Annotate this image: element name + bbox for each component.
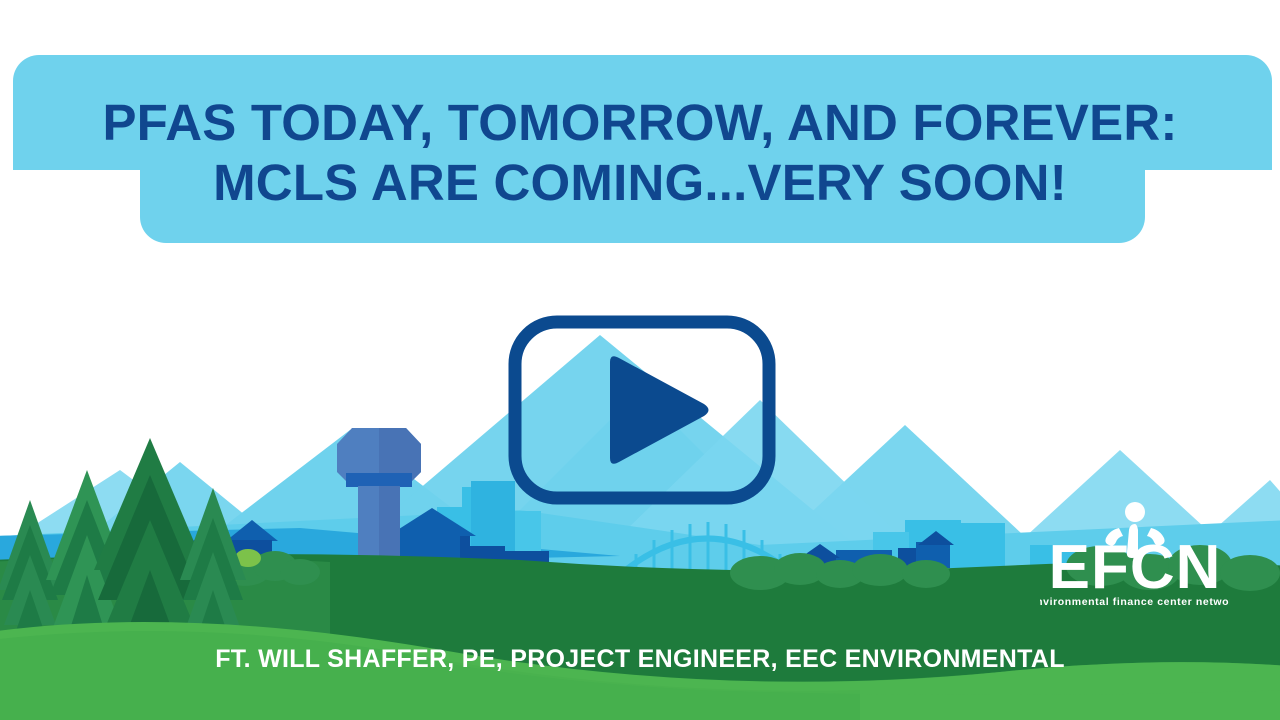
efcn-wordmark: EFCN (1049, 533, 1222, 602)
presenter-credit: FT. WILL SHAFFER, PE, PROJECT ENGINEER, … (0, 645, 1280, 674)
video-thumbnail-slide: PFAS TODAY, TOMORROW, AND FOREVER: MCLS … (0, 0, 1280, 720)
efcn-tagline: environmental finance center network (1040, 596, 1230, 608)
play-button[interactable] (508, 315, 776, 505)
play-triangle-icon[interactable] (610, 356, 709, 464)
efcn-logo: EFCN environmental finance center networ… (1040, 498, 1230, 616)
svg-text:EFCN: EFCN (1049, 533, 1222, 602)
